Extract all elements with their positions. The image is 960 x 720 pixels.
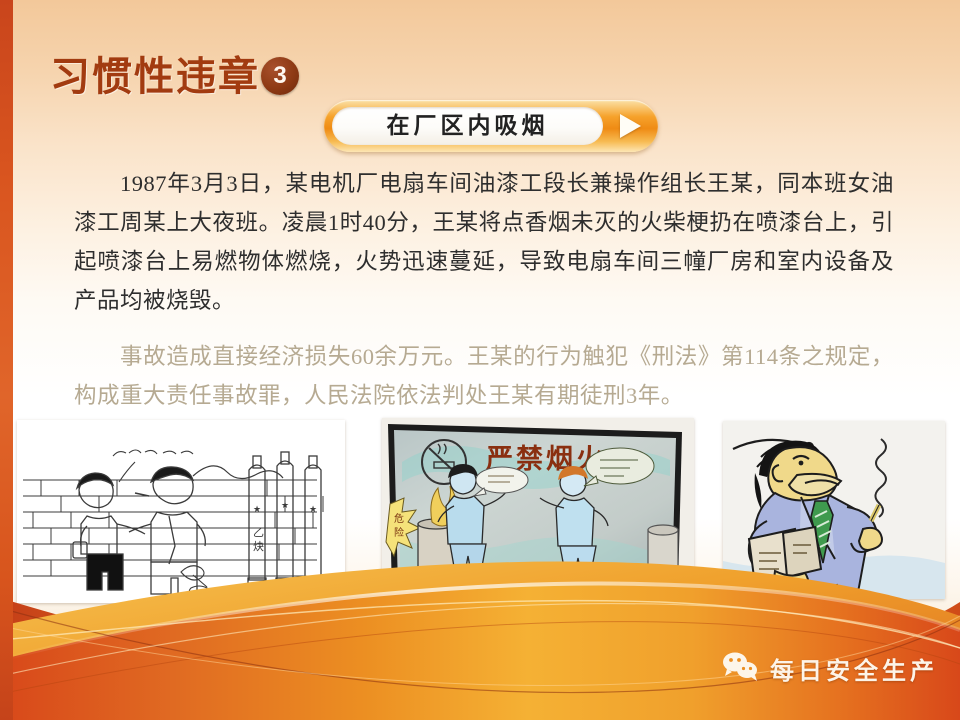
slide-root: 习惯性违章 3 在厂区内吸烟 1987年3月3日，某电机厂电扇车间油漆工段长兼操… xyxy=(0,0,960,720)
section-number-label: 3 xyxy=(261,57,299,95)
play-triangle-icon xyxy=(620,114,641,138)
paragraph-case-description: 1987年3月3日，某电机厂电扇车间油漆工段长兼操作组长王某，同本班女油漆工周某… xyxy=(74,164,894,320)
subtitle-banner: 在厂区内吸烟 xyxy=(324,100,658,152)
section-number-badge: 3 xyxy=(261,57,299,95)
footer-brand: 每日安全生产 xyxy=(721,651,938,686)
subtitle-banner-field: 在厂区内吸烟 xyxy=(332,107,603,145)
page-title: 习惯性违章 xyxy=(50,44,260,102)
left-accent-strip xyxy=(0,0,13,720)
wechat-logo-icon xyxy=(721,651,759,686)
footer-account-name: 每日安全生产 xyxy=(770,651,938,686)
paragraph-consequence: 事故造成直接经济损失60余万元。王某的行为触犯《刑法》第114条之规定，构成重大… xyxy=(74,337,894,415)
body-text-block: 1987年3月3日，某电机厂电扇车间油漆工段长兼操作组长王某，同本班女油漆工周某… xyxy=(74,164,894,423)
subtitle-label: 在厂区内吸烟 xyxy=(332,107,603,145)
slide-header: 习惯性违章 3 在厂区内吸烟 xyxy=(0,0,960,150)
